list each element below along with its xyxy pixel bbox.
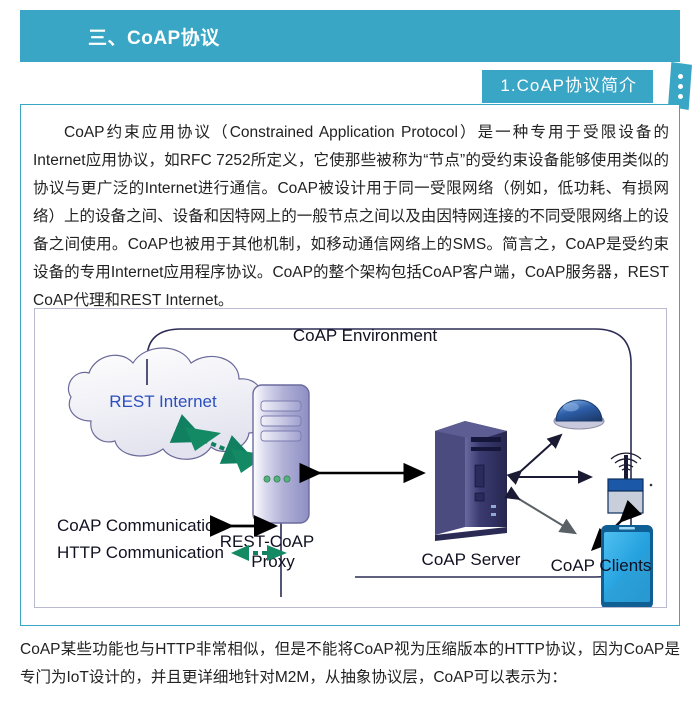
legend-label-coap: CoAP Communication <box>57 516 224 535</box>
legend-label-http: HTTP Communication <box>57 543 224 562</box>
arrow-server-dome <box>521 435 561 471</box>
content-box: CoAP约束应用协议（Constrained Application Proto… <box>20 104 680 626</box>
arrow-server-phone <box>519 499 575 533</box>
section-header: 三、CoAP协议 <box>20 10 680 62</box>
dot-2 <box>678 84 683 89</box>
rest-internet-cloud: REST Internet <box>68 348 265 459</box>
dome-sensor-icon <box>554 400 604 429</box>
figure-canvas: CoAP Environment REST Internet <box>35 309 666 607</box>
sub-badge-row: 1.CoAP协议简介 <box>0 70 700 104</box>
sub-section-badge[interactable]: 1.CoAP协议简介 <box>482 70 653 103</box>
rest-internet-label: REST Internet <box>109 392 217 411</box>
bottom-paragraph: CoAP某些功能也与HTTP非常相似，但是不能将CoAP视为压缩版本的HTTP协… <box>20 636 680 692</box>
coap-clients-label: CoAP Clients <box>551 556 652 575</box>
dot-3 <box>678 94 683 99</box>
page-title: 三、CoAP协议 <box>88 23 220 50</box>
access-point-icon <box>608 453 652 513</box>
coap-architecture-svg: CoAP Environment REST Internet <box>35 309 666 607</box>
coap-environment-label: CoAP Environment <box>293 326 438 345</box>
dot-1 <box>678 74 683 79</box>
intro-paragraph: CoAP约束应用协议（Constrained Application Proto… <box>33 119 669 315</box>
vertical-ellipsis-icon <box>668 62 692 110</box>
coap-architecture-figure: CoAP Environment REST Internet <box>34 308 667 608</box>
coap-server-icon <box>435 421 507 541</box>
coap-server-label: CoAP Server <box>422 550 521 569</box>
page-root: 三、CoAP协议 1.CoAP协议简介 CoAP约束应用协议（Constrain… <box>0 0 700 712</box>
rest-coap-proxy-icon <box>253 385 309 523</box>
